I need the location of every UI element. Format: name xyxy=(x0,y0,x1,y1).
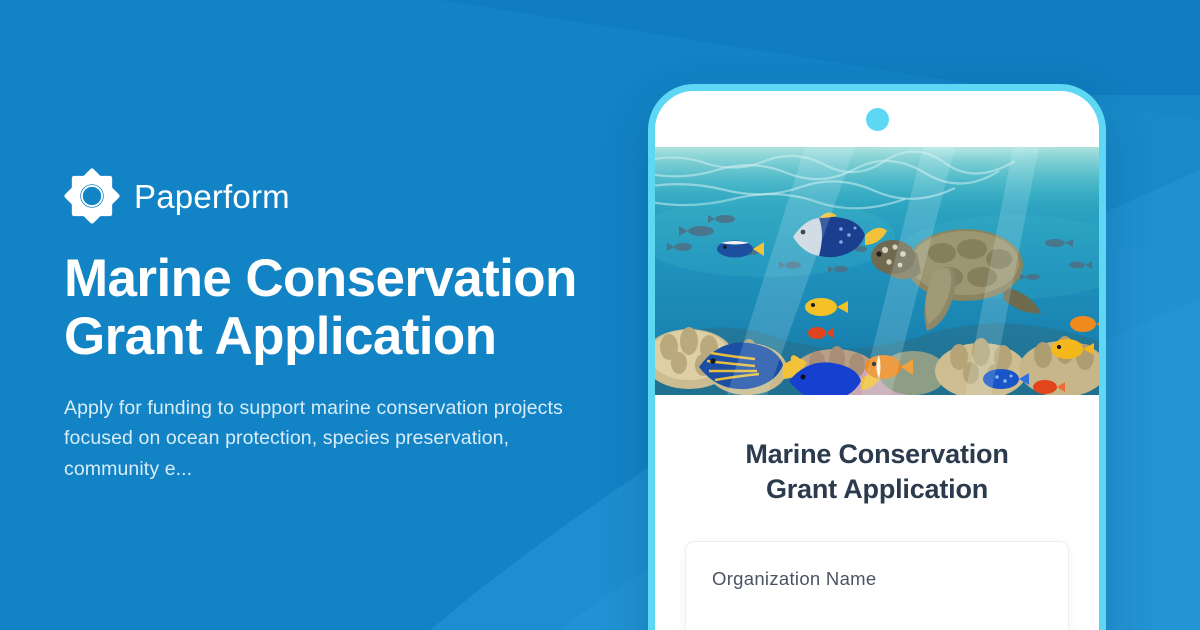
camera-dot-icon xyxy=(866,108,889,131)
form-title-line-2: Grant Application xyxy=(766,474,988,504)
page-title: Marine Conservation Grant Application xyxy=(64,250,604,367)
form-title: Marine Conservation Grant Application xyxy=(685,437,1069,507)
paperform-star-logo-icon xyxy=(64,168,120,224)
form-title-line-1: Marine Conservation xyxy=(745,439,1008,469)
left-content-column: Paperform Marine Conservation Grant Appl… xyxy=(64,168,624,485)
form-hero-image xyxy=(655,147,1099,395)
page-description: Apply for funding to support marine cons… xyxy=(64,393,564,485)
og-image-canvas: Paperform Marine Conservation Grant Appl… xyxy=(0,0,1200,630)
coral-reef-illustration xyxy=(655,147,1099,395)
page-title-line-2: Grant Application xyxy=(64,307,496,366)
page-title-line-1: Marine Conservation xyxy=(64,249,577,308)
form-body: Marine Conservation Grant Application Or… xyxy=(655,395,1099,630)
phone-notch-area xyxy=(655,91,1099,147)
brand-name: Paperform xyxy=(134,180,290,213)
organization-name-label: Organization Name xyxy=(712,568,1042,590)
phone-mockup: Marine Conservation Grant Application Or… xyxy=(648,84,1106,630)
brand-lockup: Paperform xyxy=(64,168,624,224)
form-field-card[interactable]: Organization Name xyxy=(685,541,1069,630)
